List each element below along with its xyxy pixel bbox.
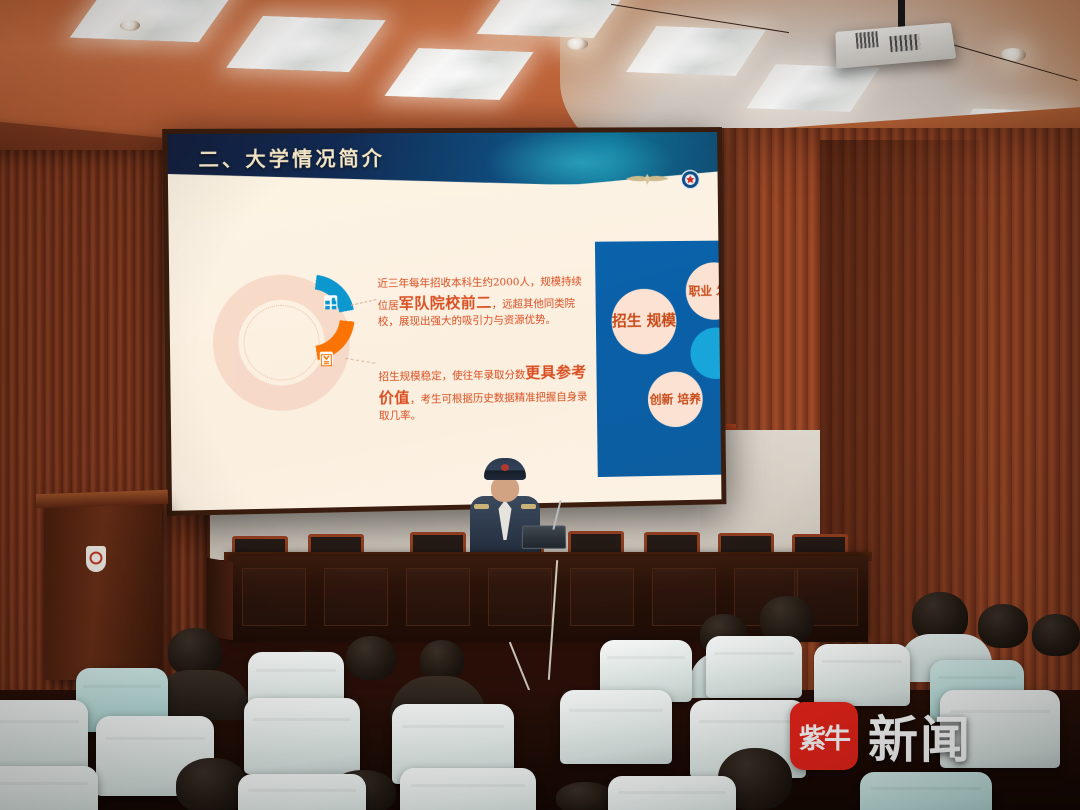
projector-mount-pole: [898, 0, 905, 28]
desk-panel: [324, 568, 388, 626]
officer-epaulette: [521, 504, 536, 509]
audience-seat: [238, 774, 366, 810]
projector-vent-icon: [889, 34, 920, 53]
projector-vent-icon: [855, 31, 878, 49]
audience-seat: [706, 636, 802, 698]
desk-panel: [570, 568, 634, 626]
watermark-text: 新闻: [868, 700, 972, 772]
audience-head: [556, 782, 614, 810]
bubble-career-development: 职业 发展: [685, 262, 721, 320]
box-checklist-icon: [320, 352, 333, 365]
paragraph-2-post: ，考生可根据历史数据精准把握自身录取几率。: [379, 390, 588, 422]
audience-seat: [0, 700, 88, 776]
leader-line: [351, 299, 377, 306]
audience-seat: [400, 768, 536, 810]
officer-epaulette: [474, 504, 489, 509]
ceiling-light-panel: [384, 48, 533, 100]
presenter-laptop: [522, 526, 567, 549]
watermark-logo: 紫牛: [790, 702, 858, 770]
bubble-innovation-training: 创新 培养: [648, 371, 703, 427]
grid-gift-icon: [324, 295, 337, 308]
desk-panel: [652, 568, 716, 626]
audience-head: [978, 604, 1028, 648]
desk-panel: [242, 568, 306, 626]
slide-paragraph-2: 招生规模稳定，使往年录取分数更具参考价值，考生可根据历史数据精准把握自身录取几率…: [378, 361, 593, 425]
desk-panel: [406, 568, 470, 626]
audience-seat: [560, 690, 672, 764]
paragraph-1-emphasis: 军队院校前二: [399, 293, 492, 312]
photo-scene: 二、大学情况简介: [0, 0, 1080, 810]
projection-screen-frame: 二、大学情况简介: [162, 127, 726, 516]
dome-light: [120, 20, 140, 31]
audience-seat: [860, 772, 992, 810]
ceiling-projector: [836, 2, 956, 66]
speaker-podium: [44, 500, 162, 680]
circular-star-emblem-icon: [680, 170, 700, 190]
paragraph-2-pre: 招生规模稳定，使往年录取分数: [378, 369, 525, 383]
desk-left-return: [207, 558, 233, 641]
ceiling-light-panel: [70, 0, 239, 42]
audience-seat: [608, 776, 736, 810]
audience-seat: [814, 644, 910, 706]
desk-panel: [488, 568, 552, 626]
audience-head: [1032, 614, 1080, 656]
winged-military-badge-icon: [625, 172, 670, 188]
audience-head: [346, 636, 396, 680]
slide-blue-panel: 招生 规模 职业 发展 创新 培养: [595, 241, 722, 477]
dome-light: [566, 38, 588, 50]
audience-seat: [244, 698, 360, 774]
slide-title: 二、大学情况简介: [198, 142, 385, 172]
shield-crest-emblem-icon: [86, 546, 106, 572]
ceiling-light-panel: [226, 16, 386, 72]
audience-head: [420, 640, 464, 680]
slide-paragraph-1: 近三年每年招收本科生约2000人，规模持续位居军队院校前二，远超其他同类院校，展…: [377, 275, 592, 331]
officer-peaked-cap: [484, 458, 526, 480]
leader-line: [345, 358, 375, 364]
slide-content-body: 近三年每年招收本科生约2000人，规模持续位居军队院校前二，远超其他同类院校，展…: [168, 172, 722, 511]
news-watermark: 紫牛 新闻: [790, 700, 972, 772]
audience-seat: [0, 766, 98, 810]
projection-screen: 二、大学情况简介: [167, 132, 721, 511]
bubble-admissions-scale: 招生 规模: [611, 289, 677, 355]
bubble-cyan-accent: [690, 327, 721, 379]
audience-head: [168, 628, 222, 676]
